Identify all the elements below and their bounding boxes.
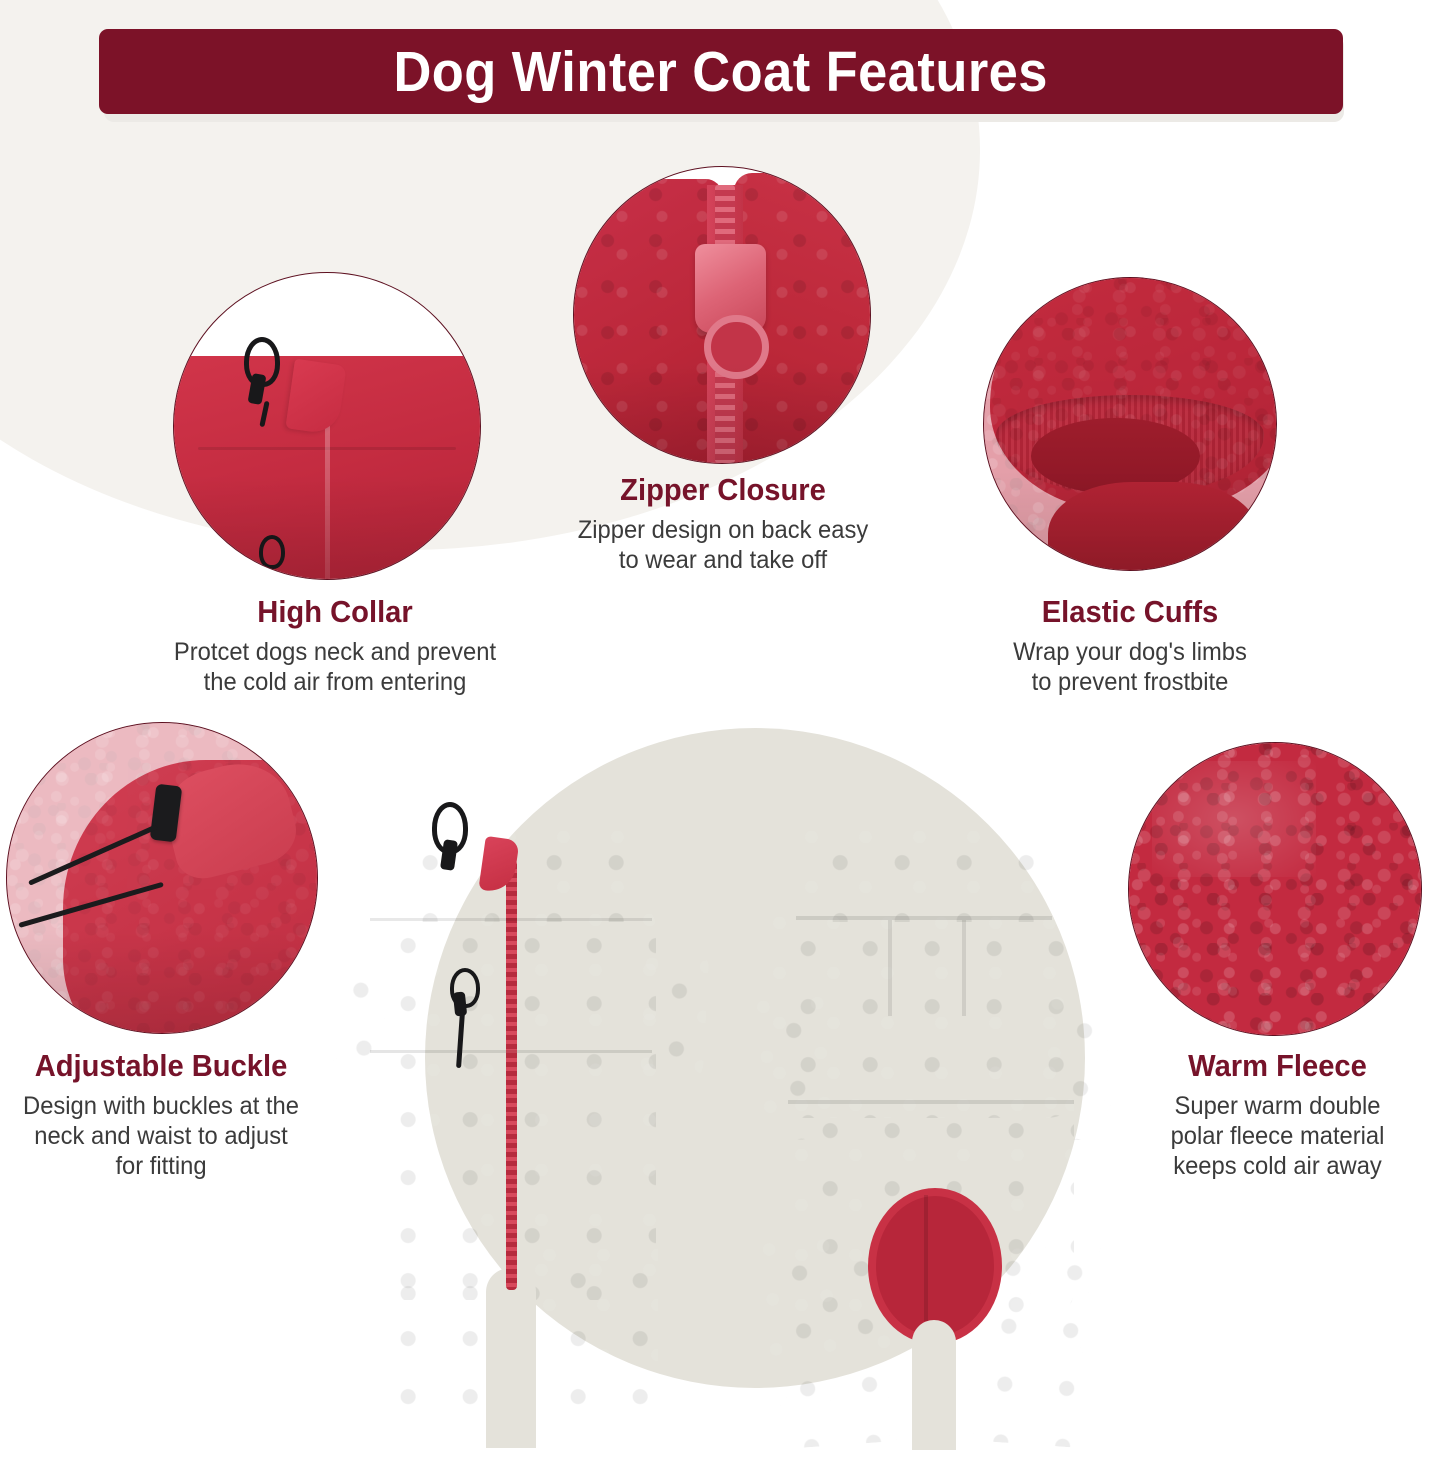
feature-title-adjustable-buckle: Adjustable Buckle: [10, 1048, 313, 1084]
adjustable-buckle-photo: [6, 722, 318, 1034]
feature-description-adjustable-buckle: Design with buckles at the neck and wais…: [8, 1091, 314, 1181]
front-center-zipper: [506, 860, 517, 1290]
back-center-seam: [888, 920, 892, 1016]
back-waist-seam: [788, 1100, 1074, 1104]
back-tail-hole-seam: [924, 1195, 928, 1321]
feature-warm-fleece: Warm Fleece Super warm double polar flee…: [1120, 1048, 1435, 1181]
back-center-seam-2: [962, 920, 966, 1016]
feature-title-elastic-cuffs: Elastic Cuffs: [923, 594, 1337, 630]
dog-coat-back-view: [740, 800, 1140, 1460]
feature-title-zipper-closure: Zipper Closure: [507, 472, 939, 508]
warm-fleece-highlight: [1152, 761, 1316, 878]
feature-zipper-closure: Zipper Closure Zipper design on back eas…: [493, 472, 953, 575]
front-left-leg: [366, 1240, 486, 1440]
title-banner: Dog Winter Coat Features: [99, 29, 1343, 114]
front-right-sleeve: [633, 948, 710, 1081]
elastic-cuffs-photo: [983, 277, 1277, 571]
feature-description-warm-fleece: Super warm double polar fleece material …: [1128, 1091, 1427, 1181]
infographic-page: Dog Winter Coat Features High Collar Pro…: [0, 0, 1445, 1468]
feature-title-high-collar: High Collar: [119, 594, 551, 630]
back-collar: [798, 822, 1048, 922]
feature-description-zipper-closure: Zipper design on back easy to wear and t…: [505, 515, 942, 575]
feature-description-elastic-cuffs: Wrap your dog's limbs to prevent frostbi…: [921, 637, 1339, 697]
collar-shadow: [174, 475, 480, 579]
front-waist-seam: [370, 1050, 652, 1053]
feature-adjustable-buckle: Adjustable Buckle Design with buckles at…: [0, 1048, 322, 1181]
back-left-sleeve: [749, 987, 837, 1142]
feature-description-high-collar: Protcet dogs neck and prevent the cold a…: [117, 637, 554, 697]
page-title: Dog Winter Coat Features: [394, 39, 1048, 105]
front-left-sleeve: [317, 948, 390, 1081]
front-chest-seam: [370, 918, 652, 921]
back-leg-gap: [912, 1320, 956, 1450]
front-leg-gap: [486, 1268, 536, 1448]
front-right-leg: [536, 1240, 658, 1440]
back-right-sleeve: [1035, 987, 1127, 1142]
dog-coat-front-view: [300, 800, 720, 1460]
feature-high-collar: High Collar Protcet dogs neck and preven…: [105, 594, 565, 697]
back-collar-seam: [796, 916, 1052, 920]
cuff-shadow: [984, 471, 1276, 570]
buckle-shadow: [7, 928, 317, 1033]
feature-title-warm-fleece: Warm Fleece: [1129, 1048, 1425, 1084]
high-collar-photo: [173, 272, 481, 580]
zipper-closure-photo: [573, 166, 871, 464]
zipper-shadow: [574, 362, 870, 463]
warm-fleece-photo: [1128, 742, 1422, 1036]
feature-elastic-cuffs: Elastic Cuffs Wrap your dog's limbs to p…: [910, 594, 1350, 697]
